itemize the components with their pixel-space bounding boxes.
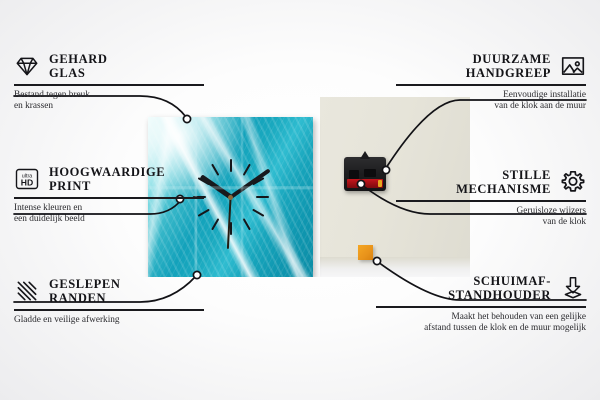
feature-title: GLAS: [49, 66, 107, 80]
feature-title: GESLEPEN: [49, 277, 121, 291]
clock-second-hand: [227, 197, 231, 249]
clock-minute-hand: [229, 168, 270, 198]
feature-schuimafstandhouder[interactable]: SCHUIMAF- STANDHOUDER Maakt het behouden…: [376, 274, 586, 335]
mechanism-slot: [364, 169, 376, 177]
feature-desc: Geruisloze wijzers: [396, 206, 586, 218]
stamp-down-arrow-icon: [560, 275, 586, 301]
feature-desc: Bestand tegen breuk: [14, 90, 204, 102]
divider: [396, 200, 586, 202]
ultra-hd-icon: ultra HD: [14, 166, 40, 192]
divider: [376, 306, 586, 308]
feature-title: STILLE: [456, 168, 551, 182]
gear-icon: [560, 169, 586, 195]
svg-text:HD: HD: [21, 178, 33, 188]
feature-title: MECHANISME: [456, 182, 551, 196]
feature-desc: een duidelijk beeld: [14, 214, 204, 226]
feature-geslepen-randen[interactable]: GESLEPEN RANDEN Gladde en veilige afwerk…: [14, 277, 204, 326]
feature-desc: Gladde en veilige afwerking: [14, 315, 204, 327]
feature-title: DUURZAME: [466, 52, 551, 66]
battery: [347, 179, 383, 188]
feature-duurzame-handgreep[interactable]: DUURZAME HANDGREEP Eenvoudige installati…: [396, 52, 586, 113]
divider: [14, 84, 204, 86]
mechanism-slot: [349, 170, 359, 179]
feature-title: HANDGREEP: [466, 66, 551, 80]
feature-desc: afstand tussen de klok en de muur mogeli…: [376, 323, 586, 335]
divider: [396, 84, 586, 86]
feature-desc: en krassen: [14, 101, 204, 113]
feature-desc: Intense kleuren en: [14, 203, 204, 215]
divider: [14, 309, 204, 311]
diagonal-lines-icon: [14, 278, 40, 304]
feature-desc: van de klok: [396, 217, 586, 229]
feature-desc: Maakt het behouden van een gelijke: [376, 312, 586, 324]
clock-hour-hand: [200, 174, 232, 199]
feature-stille-mechanisme[interactable]: STILLE MECHANISME Geruisloze wijzers van…: [396, 168, 586, 229]
feature-title: HOOGWAARDIGE: [49, 165, 165, 179]
clock-mechanism: [344, 157, 386, 191]
infographic-canvas: GEHARD GLAS Bestand tegen breuk en krass…: [0, 0, 600, 400]
feature-title: STANDHOUDER: [448, 288, 551, 302]
feature-hoogwaardige-print[interactable]: ultra HD HOOGWAARDIGE PRINT Intense kleu…: [14, 165, 204, 226]
foam-spacer: [358, 245, 373, 260]
feature-gehard-glas[interactable]: GEHARD GLAS Bestand tegen breuk en krass…: [14, 52, 204, 113]
clock-center-cap: [228, 195, 233, 200]
feature-desc: van de klok aan de muur: [396, 101, 586, 113]
diamond-icon: [14, 53, 40, 79]
feature-title: SCHUIMAF-: [448, 274, 551, 288]
feature-desc: Eenvoudige installatie: [396, 90, 586, 102]
feature-title: RANDEN: [49, 291, 121, 305]
feature-title: GEHARD: [49, 52, 107, 66]
picture-frame-icon: [560, 53, 586, 79]
divider: [14, 197, 204, 199]
feature-title: PRINT: [49, 179, 165, 193]
